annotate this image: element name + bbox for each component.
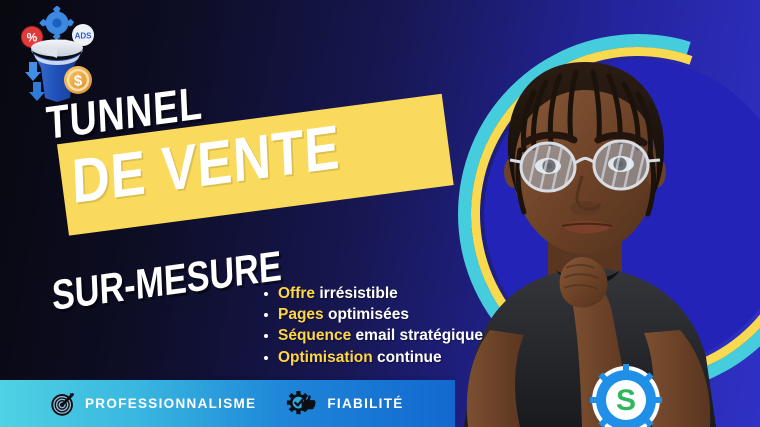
footer-item-professionnalisme[interactable]: PROFESSIONNALISME (50, 391, 256, 417)
target-dartboard-icon (50, 391, 76, 417)
feature-bullet-highlight: Pages (278, 306, 324, 323)
feature-bullet-item: Offre irrésistible (262, 283, 483, 304)
footer-item-label: FIABILITÉ (327, 396, 403, 411)
svg-text:$: $ (74, 73, 83, 90)
promo-banner-canvas: % ADS (0, 0, 760, 427)
feature-bullet-highlight: Séquence (278, 327, 351, 344)
trust-footer-bar: PROFESSIONNALISME (0, 380, 455, 427)
feature-bullet-highlight: Optimisation (278, 349, 373, 366)
headline-line-3-text: SUR-MESURE (51, 242, 283, 320)
feature-bullet-text: continue (373, 349, 442, 366)
feature-bullet-item: Séquence email stratégique (262, 325, 483, 346)
feature-bullet-item: Pages optimisées (262, 304, 483, 325)
feature-bullet-highlight: Offre (278, 285, 315, 302)
svg-text:S: S (616, 384, 636, 417)
feature-bullet-text: irrésistible (315, 285, 398, 302)
footer-item-label: PROFESSIONNALISME (85, 396, 256, 411)
feature-bullet-item: Optimisation continue (262, 347, 483, 368)
feature-bullet-text: optimisées (324, 306, 409, 323)
gear-badge (39, 6, 74, 40)
svg-text:%: % (27, 30, 38, 44)
footer-item-fiabilite[interactable]: FIABILITÉ (286, 390, 403, 417)
feature-bullet-text: email stratégique (351, 327, 483, 344)
sales-funnel-3d-icon: % ADS (12, 6, 104, 102)
feature-bullet-list: Offre irrésistiblePages optimiséesSéquen… (262, 283, 483, 368)
gear-check-thumbsup-icon (286, 390, 318, 417)
svg-text:ADS: ADS (75, 32, 93, 41)
